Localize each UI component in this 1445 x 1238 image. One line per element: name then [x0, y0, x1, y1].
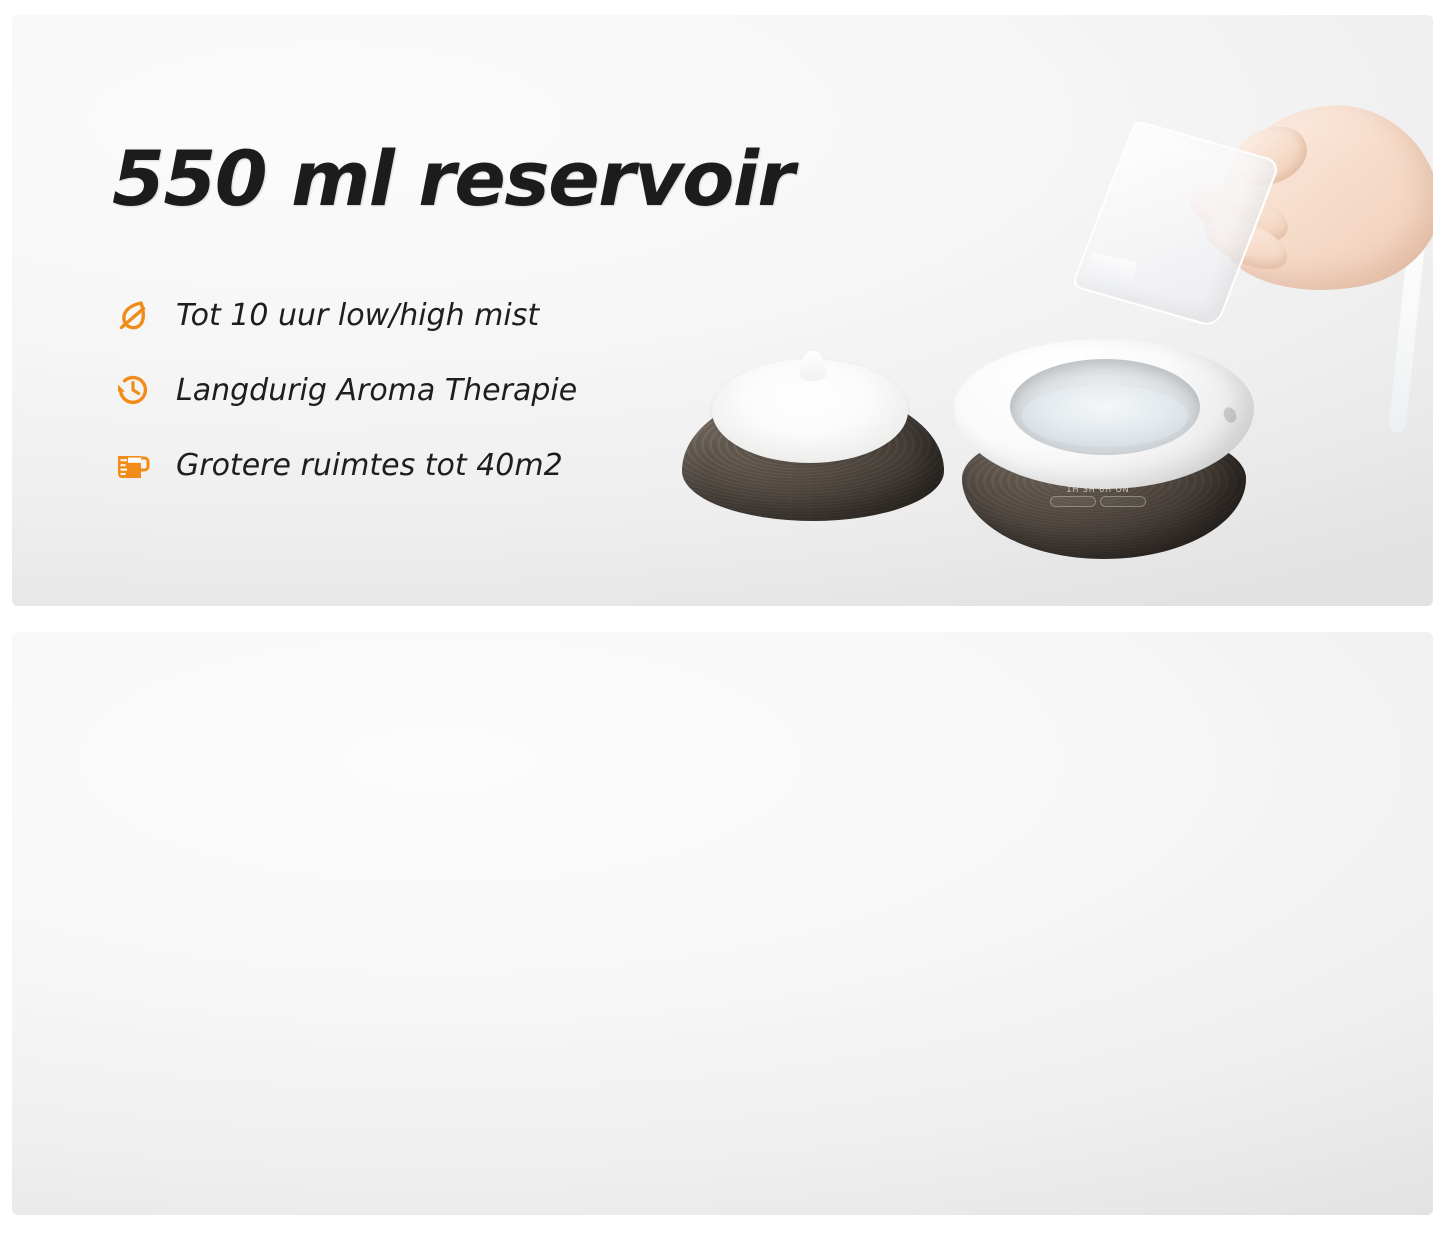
product-image-diffuser-filling: 1H 3H 6H ON [672, 333, 1262, 588]
feature-list-reservoir: Tot 10 uur low/high mist Langdurig Aroma… [112, 293, 577, 487]
leaf-icon [112, 294, 154, 336]
list-item: Grotere ruimtes tot 40m2 [112, 443, 577, 487]
clock-rewind-icon [112, 369, 154, 411]
lid-mist-spout [800, 351, 826, 381]
control-buttons [1050, 496, 1146, 507]
page-title: 550 ml reservoir [112, 141, 793, 217]
control-panel: 1H 3H 6H ON [1050, 485, 1146, 517]
measuring-cup-icon [112, 444, 154, 486]
product-feature-sheet: 550 ml reservoir Tot 10 uur low/high mis… [0, 0, 1445, 1238]
list-item-label: Tot 10 uur low/high mist [176, 299, 539, 332]
list-item-label: Grotere ruimtes tot 40m2 [176, 449, 563, 482]
list-item: Tot 10 uur low/high mist [112, 293, 577, 337]
feature-panel-auto-stop: Auto-stop Automatische uitschakeling [12, 632, 1433, 1215]
diffuser-base-open: 1H 3H 6H ON [954, 333, 1254, 565]
mist-button [1100, 496, 1146, 507]
timer-button [1050, 496, 1096, 507]
water-level [1022, 385, 1188, 447]
diffuser-lid [682, 351, 944, 531]
control-labels: 1H 3H 6H ON [1050, 485, 1146, 494]
hand-pouring-water [1082, 107, 1433, 357]
feature-panel-reservoir: 550 ml reservoir Tot 10 uur low/high mis… [12, 15, 1433, 606]
list-item-label: Langdurig Aroma Therapie [176, 374, 577, 407]
list-item: Langdurig Aroma Therapie [112, 368, 577, 412]
